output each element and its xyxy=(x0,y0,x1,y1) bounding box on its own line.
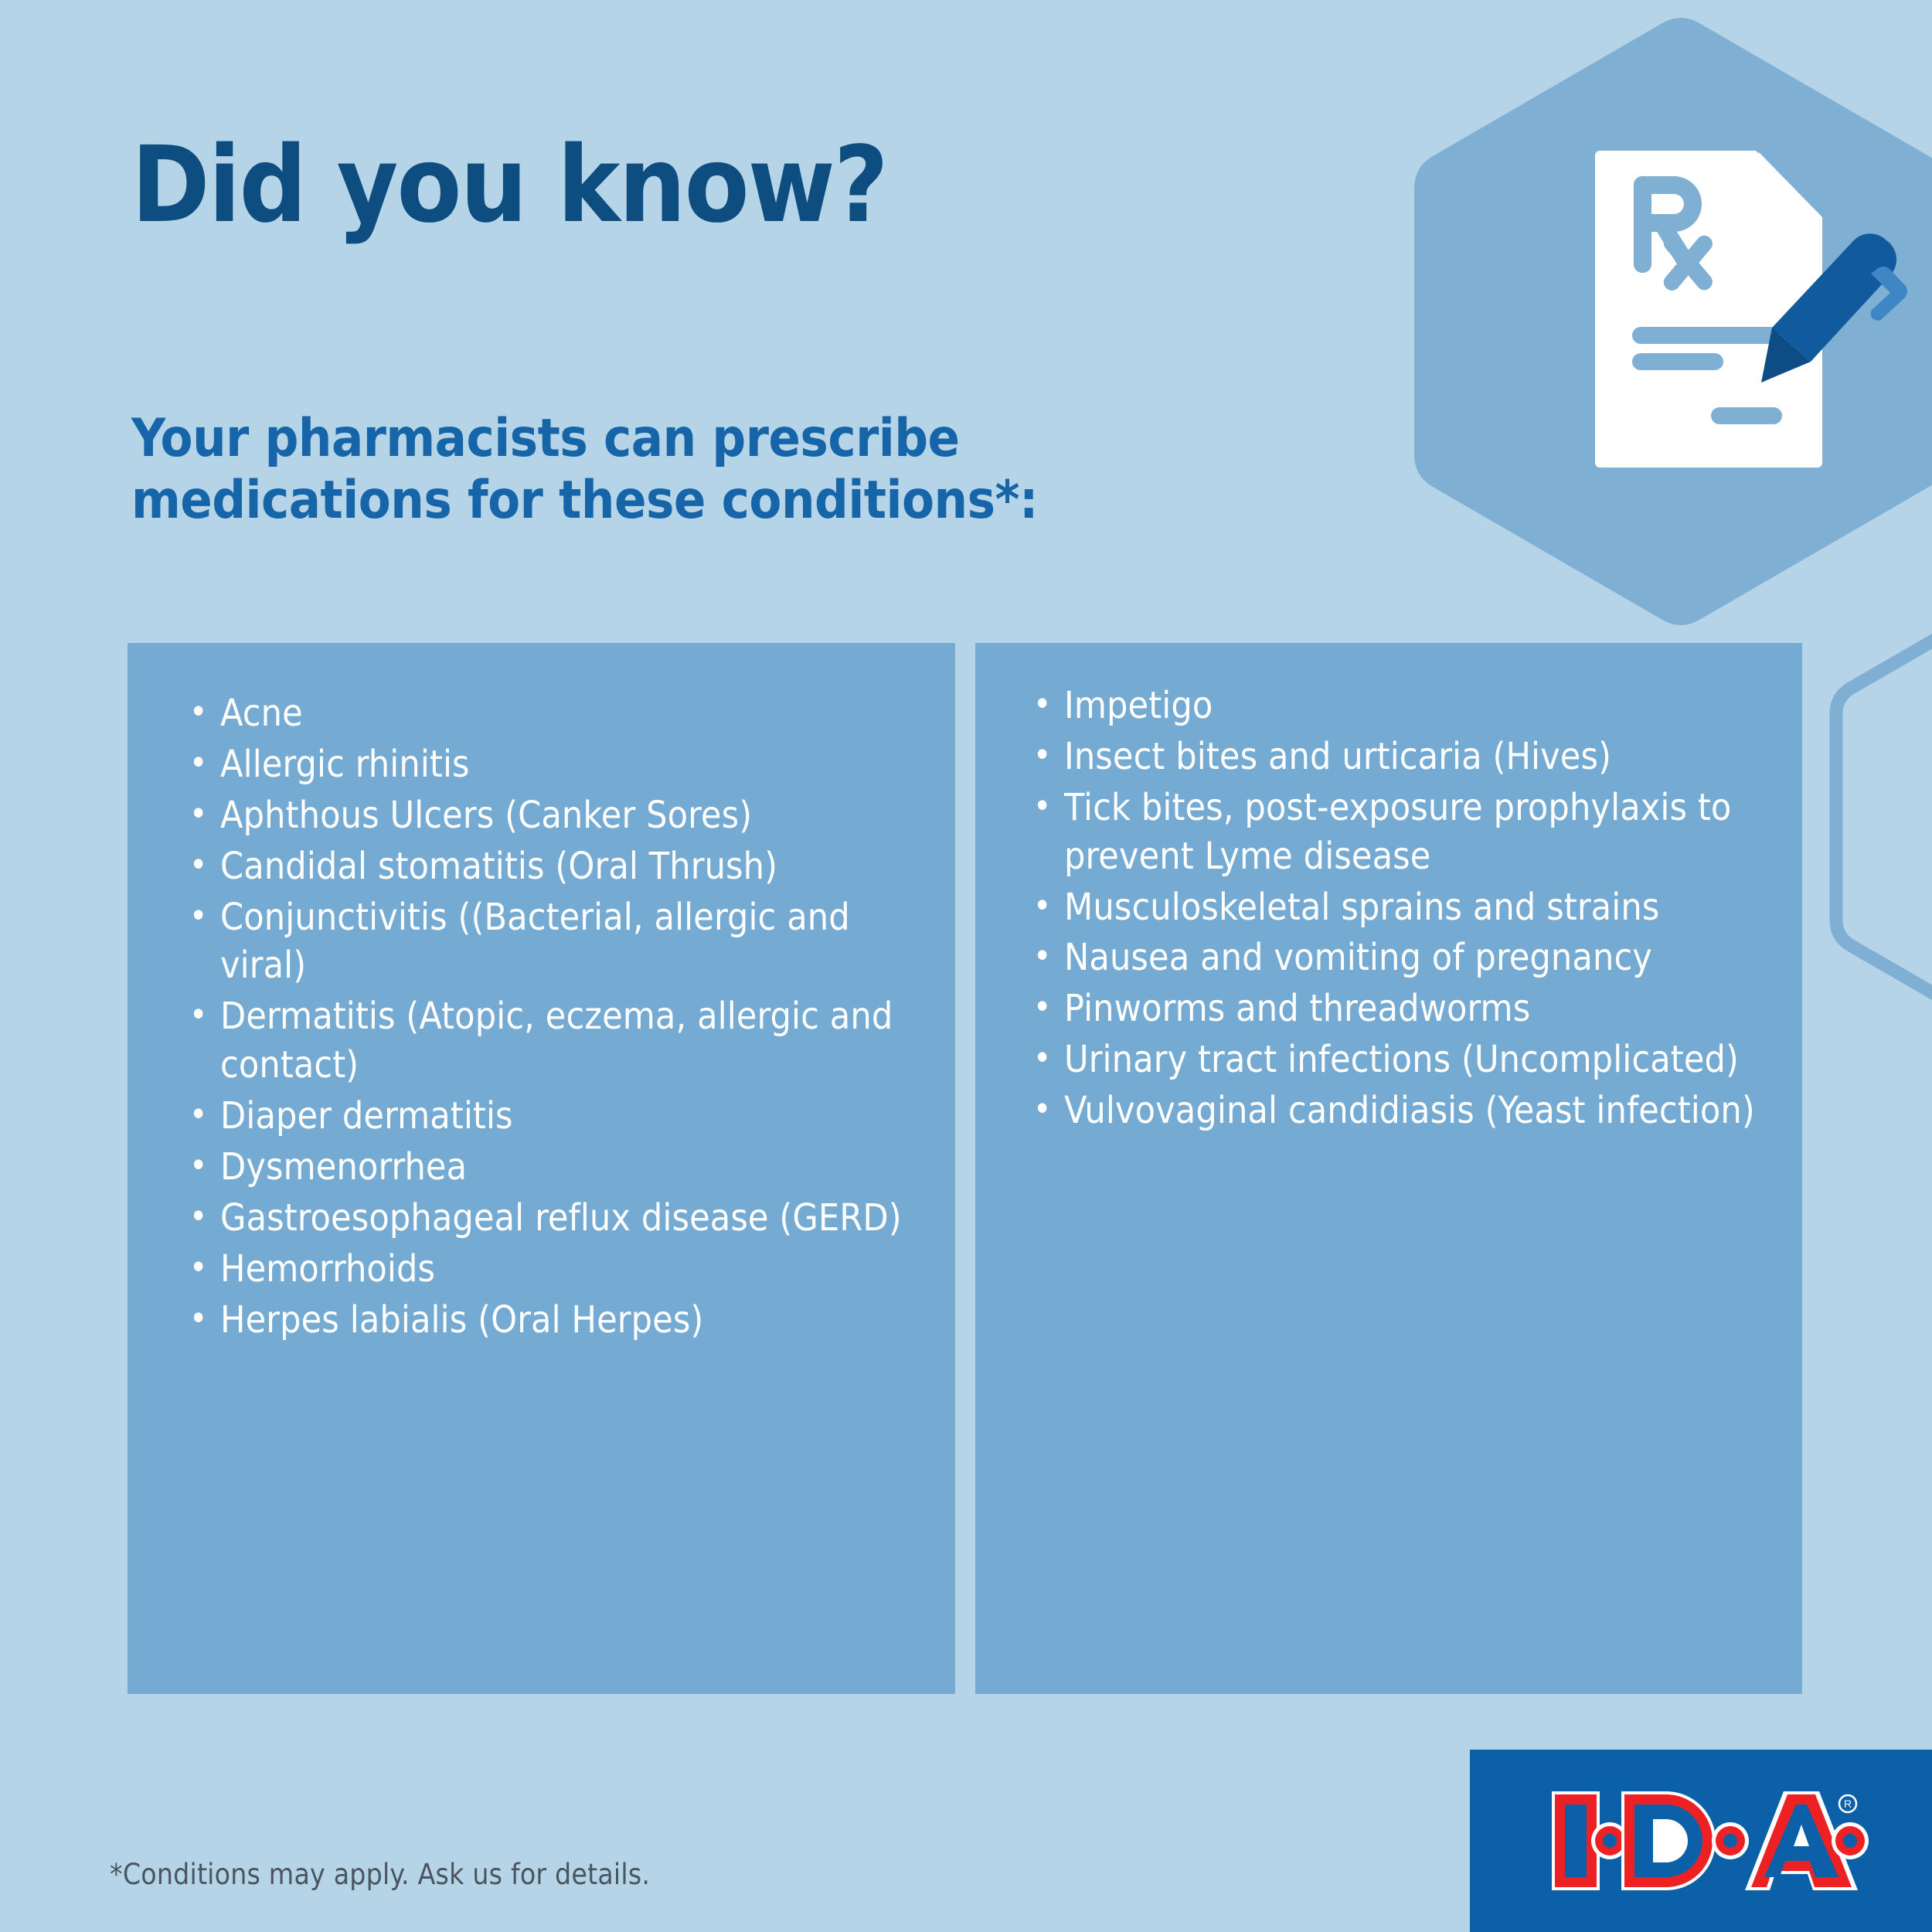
condition-list-item: Tick bites, post-exposure prophylaxis to… xyxy=(1033,784,1783,881)
condition-list-item: Hemorrhoids xyxy=(189,1245,916,1294)
page-subtitle-line-2: medications for these conditions*: xyxy=(131,470,1038,532)
condition-list-item: Acne xyxy=(189,689,916,738)
hexagon-outline-shape xyxy=(1836,541,1932,1008)
paper-fold xyxy=(1759,152,1821,216)
footnote-text: *Conditions may apply. Ask us for detail… xyxy=(110,1858,650,1891)
condition-list-item: Impetigo xyxy=(1033,682,1783,730)
prescription-document-icon xyxy=(1451,19,1932,514)
condition-list-item: Pinworms and threadworms xyxy=(1033,985,1783,1033)
page-subtitle-line-1: Your pharmacists can prescribe xyxy=(131,408,1038,470)
conditions-list-left: AcneAllergic rhinitisAphthous Ulcers (Ca… xyxy=(189,689,916,1344)
registered-trademark-icon: R xyxy=(1839,1795,1856,1812)
condition-list-item: Insect bites and urticaria (Hives) xyxy=(1033,733,1783,781)
svg-text:R: R xyxy=(1844,1798,1852,1810)
condition-list-item: Conjunctivitis ((Bacterial, allergic and… xyxy=(189,893,916,991)
condition-list-item: Candidal stomatitis (Oral Thrush) xyxy=(189,842,916,891)
condition-list-item: Gastroesophageal reflux disease (GERD) xyxy=(189,1194,916,1243)
ida-pharmacy-logo: R xyxy=(1538,1784,1870,1898)
paper-line-1 xyxy=(1632,327,1779,344)
paper-signature-line xyxy=(1711,407,1782,424)
condition-list-item: Aphthous Ulcers (Canker Sores) xyxy=(189,791,916,840)
condition-list-item: Nausea and vomiting of pregnancy xyxy=(1033,934,1783,982)
condition-list-item: Herpes labialis (Oral Herpes) xyxy=(189,1296,916,1345)
page-subtitle: Your pharmacists can prescribe medicatio… xyxy=(131,408,1038,532)
condition-list-item: Dysmenorrhea xyxy=(189,1143,916,1192)
conditions-panel-left: AcneAllergic rhinitisAphthous Ulcers (Ca… xyxy=(128,643,955,1694)
condition-list-item: Urinary tract infections (Uncomplicated) xyxy=(1033,1036,1783,1084)
ida-logo-letters xyxy=(1552,1791,1869,1890)
condition-list-item: Musculoskeletal sprains and strains xyxy=(1033,883,1783,932)
condition-list-item: Vulvovaginal candidiasis (Yeast infectio… xyxy=(1033,1087,1783,1135)
paper-line-2 xyxy=(1632,353,1723,370)
conditions-list-right: ImpetigoInsect bites and urticaria (Hive… xyxy=(1033,682,1783,1135)
condition-list-item: Dermatitis (Atopic, eczema, allergic and… xyxy=(189,992,916,1090)
condition-list-item: Allergic rhinitis xyxy=(189,740,916,789)
ida-logo-block: R xyxy=(1470,1750,1932,1932)
conditions-panel-right: ImpetigoInsect bites and urticaria (Hive… xyxy=(975,643,1802,1694)
page-title: Did you know? xyxy=(131,133,887,238)
condition-list-item: Diaper dermatitis xyxy=(189,1092,916,1141)
